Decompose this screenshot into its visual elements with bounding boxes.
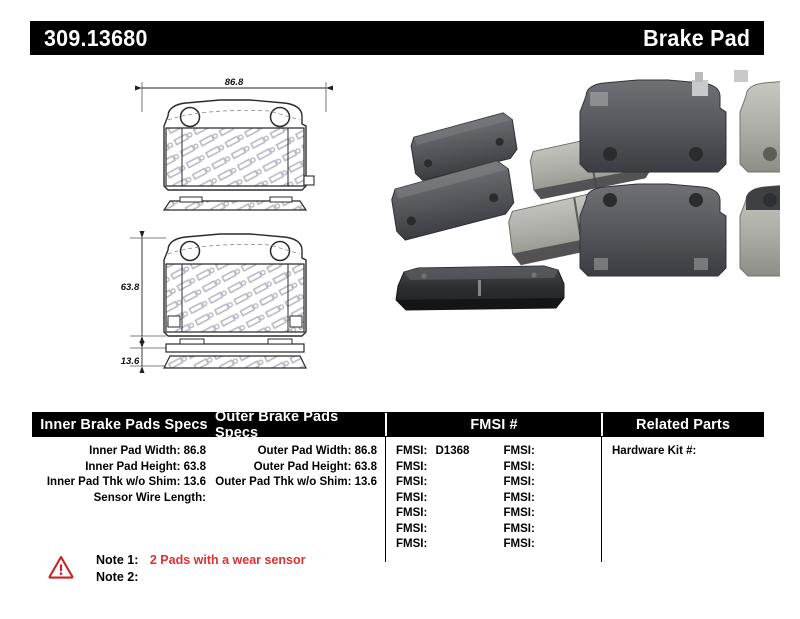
- notes-section: Note 1: 2 Pads with a wear sensor Note 2…: [48, 552, 305, 586]
- thickness-dimension-label: 13.6: [121, 356, 140, 367]
- note-text: [138, 570, 146, 584]
- spec-label: Outer Pad Width:: [258, 445, 352, 457]
- fmsi-row: FMSI:: [504, 522, 602, 538]
- header-bar: 309.13680 Brake Pad: [30, 21, 764, 55]
- fmsi-label: FMSI:: [504, 507, 535, 519]
- fmsi-value: [427, 523, 432, 535]
- fmsi-value: [535, 538, 540, 550]
- column-header-fmsi: FMSI #: [387, 413, 603, 436]
- spec-label: Inner Pad Width:: [89, 445, 180, 457]
- fmsi-label: FMSI:: [396, 492, 427, 504]
- spec-row: Outer Pad Height: 63.8: [214, 460, 385, 476]
- fmsi-label: FMSI:: [396, 523, 427, 535]
- technical-drawings: 86.8 63.8: [110, 68, 370, 388]
- fmsi-label: FMSI:: [504, 492, 535, 504]
- spec-value: 86.8: [355, 445, 377, 457]
- fmsi-label: FMSI:: [396, 445, 427, 457]
- fmsi-label: FMSI:: [504, 445, 535, 457]
- spec-row: Inner Pad Height: 63.8: [32, 460, 214, 476]
- fmsi-row: FMSI:: [396, 491, 494, 507]
- spec-row: Outer Pad Thk w/o Shim: 13.6: [214, 475, 385, 491]
- fmsi-value: [535, 523, 540, 535]
- fmsi-value: [535, 492, 540, 504]
- fmsi-row: FMSI:: [504, 491, 602, 507]
- note-label: Note 1:: [96, 553, 138, 567]
- fmsi-value: [535, 445, 540, 457]
- warning-triangle-icon: [48, 554, 74, 580]
- related-part-label: Hardware Kit #:: [612, 445, 696, 457]
- pad-dimension-drawings: 86.8 63.8: [110, 68, 370, 388]
- spec-label: Outer Pad Height:: [254, 461, 352, 473]
- column-header-inner-specs: Inner Brake Pads Specs: [33, 413, 215, 436]
- fmsi-value: [535, 461, 540, 473]
- fmsi-value: [427, 492, 432, 504]
- fmsi-value: D1368: [431, 445, 470, 457]
- fmsi-row: FMSI: D1368: [396, 444, 494, 460]
- fmsi-value: [535, 476, 540, 488]
- table-body: Inner Pad Width: 86.8 Inner Pad Height: …: [32, 437, 764, 562]
- spec-value: 13.6: [184, 476, 206, 488]
- fmsi-row: FMSI:: [504, 444, 602, 460]
- fmsi-row: FMSI:: [396, 537, 494, 553]
- related-parts-column: Hardware Kit #:: [602, 437, 762, 562]
- spec-row: Inner Pad Thk w/o Shim: 13.6: [32, 475, 214, 491]
- spec-label: Sensor Wire Length:: [94, 492, 206, 504]
- spec-value: 63.8: [184, 461, 206, 473]
- brake-pad-photo-group: [380, 68, 780, 388]
- fmsi-value: [427, 476, 432, 488]
- note-row: Note 1: 2 Pads with a wear sensor: [96, 552, 305, 569]
- pad-side-view: 63.8 13.6: [121, 234, 306, 368]
- fmsi-row: FMSI:: [504, 460, 602, 476]
- table-header-row: Inner Brake Pads Specs Outer Brake Pads …: [32, 412, 764, 437]
- fmsi-value: [427, 461, 432, 473]
- spec-value: 13.6: [355, 476, 377, 488]
- edge-view-photo: [396, 266, 564, 310]
- fmsi-row: FMSI:: [396, 475, 494, 491]
- fmsi-value: [535, 507, 540, 519]
- width-dimension-label: 86.8: [225, 77, 244, 88]
- spec-value: 63.8: [355, 461, 377, 473]
- note-row: Note 2:: [96, 569, 305, 586]
- fmsi-label: FMSI:: [396, 507, 427, 519]
- fmsi-row: FMSI:: [504, 537, 602, 553]
- fmsi-label: FMSI:: [504, 461, 535, 473]
- related-part-row: Hardware Kit #:: [612, 444, 762, 460]
- height-dimension-label: 63.8: [121, 282, 140, 293]
- part-number: 309.13680: [44, 25, 148, 52]
- spec-row: Sensor Wire Length:: [32, 491, 214, 507]
- fmsi-label: FMSI:: [396, 461, 427, 473]
- outer-specs-column: Outer Pad Width: 86.8 Outer Pad Height: …: [214, 437, 386, 562]
- fmsi-column: FMSI: D1368 FMSI: FMSI: FMSI: FMSI:: [386, 437, 602, 562]
- fmsi-value: [427, 538, 432, 550]
- fmsi-row: FMSI:: [396, 506, 494, 522]
- inner-specs-column: Inner Pad Width: 86.8 Inner Pad Height: …: [32, 437, 214, 562]
- column-header-outer-specs: Outer Brake Pads Specs: [215, 413, 387, 436]
- fmsi-row: FMSI:: [396, 460, 494, 476]
- product-photos: [380, 68, 780, 388]
- fmsi-label: FMSI:: [396, 476, 427, 488]
- product-type-label: Brake Pad: [643, 25, 750, 52]
- spec-label: Inner Pad Height:: [85, 461, 180, 473]
- fmsi-row: FMSI:: [396, 522, 494, 538]
- note-text: 2 Pads with a wear sensor: [142, 553, 306, 567]
- fmsi-label: FMSI:: [504, 476, 535, 488]
- fmsi-label: FMSI:: [396, 538, 427, 550]
- note-label: Note 2:: [96, 570, 138, 584]
- column-header-related-parts: Related Parts: [603, 413, 763, 436]
- fmsi-right-subcolumn: FMSI: FMSI: FMSI: FMSI: FMSI:: [494, 444, 602, 562]
- fmsi-row: FMSI:: [504, 475, 602, 491]
- fmsi-label: FMSI:: [504, 538, 535, 550]
- pad-top-view: 86.8: [142, 77, 326, 210]
- spec-row: Inner Pad Width: 86.8: [32, 444, 214, 460]
- spec-value: 86.8: [184, 445, 206, 457]
- fmsi-label: FMSI:: [504, 523, 535, 535]
- note-lines: Note 1: 2 Pads with a wear sensor Note 2…: [96, 552, 305, 586]
- specifications-table: Inner Brake Pads Specs Outer Brake Pads …: [32, 412, 764, 562]
- fmsi-value: [427, 507, 432, 519]
- fmsi-left-subcolumn: FMSI: D1368 FMSI: FMSI: FMSI: FMSI:: [386, 444, 494, 562]
- spec-label: Inner Pad Thk w/o Shim:: [47, 476, 181, 488]
- spec-row: Outer Pad Width: 86.8: [214, 444, 385, 460]
- fmsi-row: FMSI:: [504, 506, 602, 522]
- spec-label: Outer Pad Thk w/o Shim:: [215, 476, 351, 488]
